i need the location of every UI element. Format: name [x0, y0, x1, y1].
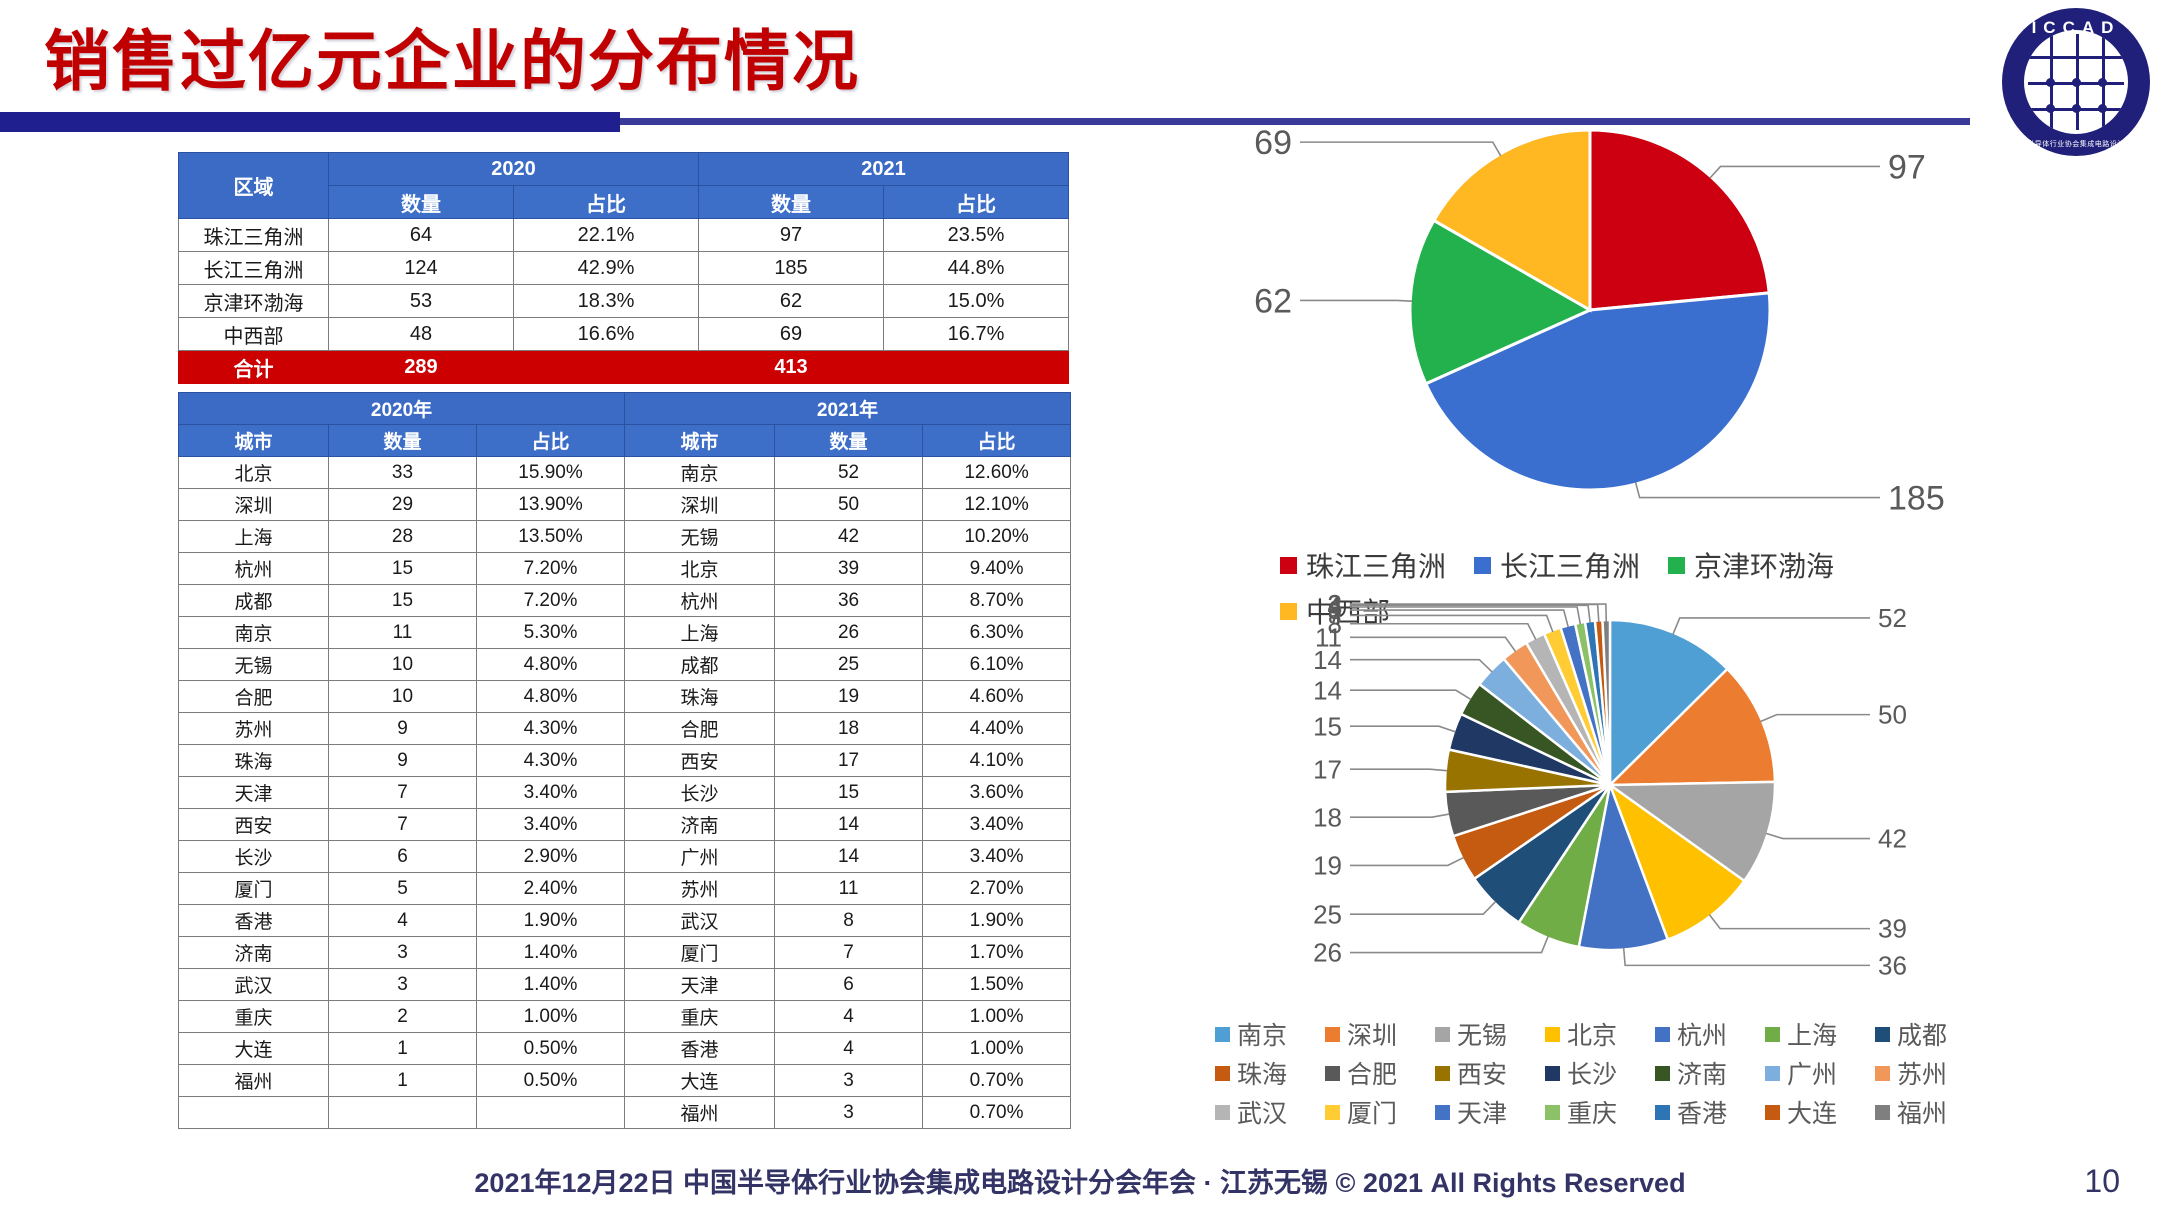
table-cell: 4 — [329, 905, 477, 937]
pie-data-label: 15 — [1313, 711, 1342, 741]
table-cell: 48 — [329, 318, 514, 351]
leader-line — [1300, 142, 1501, 156]
legend-label: 武汉 — [1237, 1094, 1287, 1130]
legend-swatch-icon — [1325, 1066, 1340, 1081]
pie-slice — [1590, 130, 1769, 310]
table-cell: 3.60% — [923, 777, 1071, 809]
table-row: 福州10.50%大连30.70% — [179, 1065, 1071, 1097]
table-cell: 长江三角洲 — [179, 252, 329, 285]
table-cell: 0.50% — [477, 1065, 625, 1097]
table-cell: 15 — [775, 777, 923, 809]
city-subheader-count-2020: 数量 — [329, 425, 477, 457]
table-row: 合肥104.80%珠海194.60% — [179, 681, 1071, 713]
table-cell: 7 — [329, 809, 477, 841]
table-cell: 12.60% — [923, 457, 1071, 489]
table-cell: 天津 — [179, 777, 329, 809]
table-cell: 1.00% — [923, 1001, 1071, 1033]
region-subheader-count-2020: 数量 — [329, 186, 514, 219]
pie-data-label: 26 — [1313, 938, 1342, 968]
table-row: 深圳2913.90%深圳5012.10% — [179, 489, 1071, 521]
pie-data-label: 36 — [1878, 950, 1907, 980]
table-cell — [884, 351, 1069, 384]
leader-line — [1350, 637, 1516, 651]
table-cell: 12.10% — [923, 489, 1071, 521]
table-cell: 济南 — [625, 809, 775, 841]
leader-line — [1350, 660, 1492, 672]
table-cell: 3.40% — [477, 809, 625, 841]
legend-swatch-icon — [1668, 557, 1685, 574]
table-cell: 14 — [775, 841, 923, 873]
table-cell: 97 — [699, 219, 884, 252]
table-cell: 重庆 — [625, 1001, 775, 1033]
table-cell: 3 — [775, 1065, 923, 1097]
legend-label: 西安 — [1457, 1055, 1507, 1091]
legend-swatch-icon — [1435, 1066, 1450, 1081]
pie-data-label: 18 — [1313, 802, 1342, 832]
table-cell — [179, 1097, 329, 1129]
table-cell: 无锡 — [625, 521, 775, 553]
legend-label: 大连 — [1787, 1094, 1837, 1130]
table-cell: 香港 — [625, 1033, 775, 1065]
table-cell: 重庆 — [179, 1001, 329, 1033]
legend-label: 重庆 — [1567, 1094, 1617, 1130]
table-cell: 3 — [329, 969, 477, 1001]
table-cell: 杭州 — [179, 553, 329, 585]
table-cell: 福州 — [625, 1097, 775, 1129]
table-cell: 9.40% — [923, 553, 1071, 585]
table-row: 长沙62.90%广州143.40% — [179, 841, 1071, 873]
pie-data-label: 39 — [1878, 914, 1907, 944]
table-cell: 武汉 — [179, 969, 329, 1001]
table-cell: 苏州 — [625, 873, 775, 905]
legend-item[interactable]: 重庆 — [1545, 1094, 1649, 1130]
table-cell: 17 — [775, 745, 923, 777]
footer-text: 2021年12月22日 中国半导体行业协会集成电路设计分会年会 · 江苏无锡 ©… — [0, 1161, 2160, 1200]
legend-label: 上海 — [1787, 1016, 1837, 1052]
table-cell: 大连 — [625, 1065, 775, 1097]
table-cell: 36 — [775, 585, 923, 617]
pie-data-label: 19 — [1313, 850, 1342, 880]
table-cell: 28 — [329, 521, 477, 553]
leader-line — [1673, 618, 1870, 634]
table-cell: 南京 — [179, 617, 329, 649]
legend-item[interactable]: 杭州 — [1655, 1016, 1759, 1052]
table-cell: 珠海 — [625, 681, 775, 713]
legend-swatch-icon — [1215, 1027, 1230, 1042]
city-header-2020: 2020年 — [179, 393, 625, 425]
legend-swatch-icon — [1655, 1066, 1670, 1081]
city-pie-chart: 52504239362625191817151414118764433 — [1160, 590, 2060, 1020]
table-cell: 2.90% — [477, 841, 625, 873]
table-cell: 53 — [329, 285, 514, 318]
table-row-total: 合计289413 — [179, 351, 1069, 384]
table-cell: 成都 — [179, 585, 329, 617]
legend-swatch-icon — [1765, 1105, 1780, 1120]
table-cell: 6.30% — [923, 617, 1071, 649]
table-cell: 4.30% — [477, 713, 625, 745]
table-row: 厦门52.40%苏州112.70% — [179, 873, 1071, 905]
table-cell: 济南 — [179, 937, 329, 969]
legend-swatch-icon — [1545, 1066, 1560, 1081]
table-cell: 4.30% — [477, 745, 625, 777]
table-cell: 4.10% — [923, 745, 1071, 777]
table-cell: 4.40% — [923, 713, 1071, 745]
table-cell: 0.70% — [923, 1065, 1071, 1097]
legend-item[interactable]: 上海 — [1765, 1016, 1869, 1052]
table-cell: 北京 — [625, 553, 775, 585]
city-header-2021: 2021年 — [625, 393, 1071, 425]
table-cell: 7 — [329, 777, 477, 809]
pie-data-label: 17 — [1313, 754, 1342, 784]
legend-label: 南京 — [1237, 1016, 1287, 1052]
region-subheader-count-2021: 数量 — [699, 186, 884, 219]
slide: 销售过亿元企业的分布情况 ICCAD 中国半导体行业协会集成电路设计分会 区域 … — [0, 0, 2160, 1216]
legend-swatch-icon — [1765, 1027, 1780, 1042]
legend-item[interactable]: 西安 — [1435, 1055, 1539, 1091]
table-cell: 124 — [329, 252, 514, 285]
table-cell: 1.40% — [477, 969, 625, 1001]
table-cell — [514, 351, 699, 384]
table-cell: 16.7% — [884, 318, 1069, 351]
table-cell: 185 — [699, 252, 884, 285]
table-cell: 52 — [775, 457, 923, 489]
table-row: 成都157.20%杭州368.70% — [179, 585, 1071, 617]
table-cell: 0.50% — [477, 1033, 625, 1065]
leader-line — [1350, 769, 1447, 771]
leader-line — [1350, 936, 1548, 952]
table-cell: 1.70% — [923, 937, 1071, 969]
region-header-2021: 2021 — [699, 153, 1069, 186]
legend-swatch-icon — [1765, 1066, 1780, 1081]
table-cell: 11 — [775, 873, 923, 905]
table-cell: 10 — [329, 681, 477, 713]
table-cell: 1 — [329, 1033, 477, 1065]
table-cell: 18.3% — [514, 285, 699, 318]
legend-label: 京津环渤海 — [1694, 545, 1834, 585]
table-cell: 1.00% — [923, 1033, 1071, 1065]
legend-label: 无锡 — [1457, 1016, 1507, 1052]
legend-label: 长沙 — [1567, 1055, 1617, 1091]
region-pie-chart: 971856269 — [1190, 120, 1980, 540]
table-cell: 14 — [775, 809, 923, 841]
region-subheader-share-2021: 占比 — [884, 186, 1069, 219]
legend-swatch-icon — [1655, 1105, 1670, 1120]
table-cell: 6 — [775, 969, 923, 1001]
legend-item[interactable]: 北京 — [1545, 1016, 1649, 1052]
table-row: 天津73.40%长沙153.60% — [179, 777, 1071, 809]
legend-swatch-icon — [1545, 1027, 1560, 1042]
table-cell: 上海 — [625, 617, 775, 649]
legend-label: 长江三角洲 — [1500, 545, 1640, 585]
table-cell: 9 — [329, 713, 477, 745]
legend-item[interactable]: 长沙 — [1545, 1055, 1649, 1091]
leader-line — [1350, 858, 1464, 866]
table-cell: 西安 — [625, 745, 775, 777]
leader-line — [1350, 814, 1449, 817]
table-cell: 7.20% — [477, 585, 625, 617]
legend-swatch-icon — [1280, 557, 1297, 574]
table-cell: 25 — [775, 649, 923, 681]
table-cell: 武汉 — [625, 905, 775, 937]
table-cell: 2.40% — [477, 873, 625, 905]
city-subheader-share-2020: 占比 — [477, 425, 625, 457]
legend-swatch-icon — [1474, 557, 1491, 574]
legend-item[interactable]: 香港 — [1655, 1094, 1759, 1130]
table-row: 武汉31.40%天津61.50% — [179, 969, 1071, 1001]
region-header-2020: 2020 — [329, 153, 699, 186]
legend-item[interactable]: 无锡 — [1435, 1016, 1539, 1052]
legend-item[interactable]: 珠江三角洲 — [1280, 545, 1446, 585]
table-row: 京津环渤海5318.3%6215.0% — [179, 285, 1069, 318]
table-cell: 4 — [775, 1033, 923, 1065]
table-cell: 15 — [329, 585, 477, 617]
table-row: 福州30.70% — [179, 1097, 1071, 1129]
table-cell: 大连 — [179, 1033, 329, 1065]
table-cell: 23.5% — [884, 219, 1069, 252]
leader-line — [1636, 482, 1880, 497]
table-cell: 8 — [775, 905, 923, 937]
city-subheader-city-2020: 城市 — [179, 425, 329, 457]
table-cell: 南京 — [625, 457, 775, 489]
table-cell: 5 — [329, 873, 477, 905]
legend-label: 天津 — [1457, 1094, 1507, 1130]
table-cell: 15.0% — [884, 285, 1069, 318]
legend-label: 深圳 — [1347, 1016, 1397, 1052]
table-cell: 22.1% — [514, 219, 699, 252]
table-cell: 4.80% — [477, 681, 625, 713]
table-cell: 无锡 — [179, 649, 329, 681]
table-cell: 中西部 — [179, 318, 329, 351]
leader-line — [1624, 948, 1870, 966]
leader-line — [1710, 166, 1880, 178]
table-cell: 合肥 — [625, 713, 775, 745]
table-cell: 福州 — [179, 1065, 329, 1097]
table-cell: 62 — [699, 285, 884, 318]
table-cell: 3.40% — [923, 809, 1071, 841]
table-cell: 香港 — [179, 905, 329, 937]
table-cell: 3 — [329, 937, 477, 969]
table-cell: 厦门 — [179, 873, 329, 905]
table-row: 杭州157.20%北京399.40% — [179, 553, 1071, 585]
region-subheader-share-2020: 占比 — [514, 186, 699, 219]
table-cell: 10 — [329, 649, 477, 681]
legend-item[interactable]: 成都 — [1875, 1016, 1979, 1052]
legend-label: 北京 — [1567, 1016, 1617, 1052]
legend-item[interactable]: 长江三角洲 — [1474, 545, 1640, 585]
legend-item[interactable]: 南京 — [1215, 1016, 1319, 1052]
legend-item[interactable]: 广州 — [1765, 1055, 1869, 1091]
page-number: 10 — [2084, 1163, 2120, 1200]
table-row: 北京3315.90%南京5212.60% — [179, 457, 1071, 489]
table-cell: 厦门 — [625, 937, 775, 969]
table-cell: 珠海 — [179, 745, 329, 777]
pie-data-label: 25 — [1313, 899, 1342, 929]
table-cell: 成都 — [625, 649, 775, 681]
legend-swatch-icon — [1435, 1027, 1450, 1042]
table-cell: 长沙 — [179, 841, 329, 873]
city-subheader-count-2021: 数量 — [775, 425, 923, 457]
table-cell: 50 — [775, 489, 923, 521]
logo-circuit-icon — [2024, 30, 2128, 134]
table-cell: 44.8% — [884, 252, 1069, 285]
table-row: 上海2813.50%无锡4210.20% — [179, 521, 1071, 553]
table-cell: 深圳 — [179, 489, 329, 521]
pie-data-label: 3 — [1328, 590, 1342, 619]
table-row: 苏州94.30%合肥184.40% — [179, 713, 1071, 745]
table-cell: 1.50% — [923, 969, 1071, 1001]
table-cell: 广州 — [625, 841, 775, 873]
legend-label: 厦门 — [1347, 1094, 1397, 1130]
table-cell: 289 — [329, 351, 514, 384]
table-cell: 珠江三角洲 — [179, 219, 329, 252]
table-cell: 2.70% — [923, 873, 1071, 905]
city-subheader-city-2021: 城市 — [625, 425, 775, 457]
legend-label: 济南 — [1677, 1055, 1727, 1091]
table-cell: 天津 — [625, 969, 775, 1001]
table-row: 香港41.90%武汉81.90% — [179, 905, 1071, 937]
table-cell: 33 — [329, 457, 477, 489]
legend-label: 合肥 — [1347, 1055, 1397, 1091]
table-cell: 1 — [329, 1065, 477, 1097]
legend-label: 香港 — [1677, 1094, 1727, 1130]
city-subheader-share-2021: 占比 — [923, 425, 1071, 457]
table-cell: 5.30% — [477, 617, 625, 649]
table-cell: 6.10% — [923, 649, 1071, 681]
iccad-logo: ICCAD 中国半导体行业协会集成电路设计分会 — [2002, 8, 2150, 156]
legend-swatch-icon — [1875, 1105, 1890, 1120]
legend-swatch-icon — [1325, 1105, 1340, 1120]
table-cell: 8.70% — [923, 585, 1071, 617]
leader-line — [1350, 726, 1456, 732]
table-row: 珠海94.30%西安174.10% — [179, 745, 1071, 777]
table-cell: 10.20% — [923, 521, 1071, 553]
legend-item[interactable]: 苏州 — [1875, 1055, 1979, 1091]
legend-item[interactable]: 合肥 — [1325, 1055, 1429, 1091]
legend-label: 苏州 — [1897, 1055, 1947, 1091]
legend-swatch-icon — [1875, 1027, 1890, 1042]
legend-item[interactable]: 济南 — [1655, 1055, 1759, 1091]
table-cell: 上海 — [179, 521, 329, 553]
leader-line — [1709, 915, 1870, 929]
table-cell — [329, 1097, 477, 1129]
table-cell: 合肥 — [179, 681, 329, 713]
table-cell: 3.40% — [477, 777, 625, 809]
legend-label: 珠江三角洲 — [1306, 545, 1446, 585]
table-cell: 1.00% — [477, 1001, 625, 1033]
table-row: 长江三角洲12442.9%18544.8% — [179, 252, 1069, 285]
table-cell: 4.80% — [477, 649, 625, 681]
table-cell: 9 — [329, 745, 477, 777]
table-row: 南京115.30%上海266.30% — [179, 617, 1071, 649]
table-cell: 6 — [329, 841, 477, 873]
table-cell: 15 — [329, 553, 477, 585]
table-cell: 64 — [329, 219, 514, 252]
page-title: 销售过亿元企业的分布情况 — [44, 8, 860, 104]
table-row: 珠江三角洲6422.1%9723.5% — [179, 219, 1069, 252]
pie-data-label: 69 — [1254, 124, 1292, 162]
legend-label: 广州 — [1787, 1055, 1837, 1091]
table-cell: 18 — [775, 713, 923, 745]
table-cell: 合计 — [179, 351, 329, 384]
title-rule-thick — [0, 112, 620, 132]
pie-data-label: 185 — [1888, 479, 1945, 517]
leader-line — [1300, 300, 1412, 301]
table-cell: 11 — [329, 617, 477, 649]
table-cell: 杭州 — [625, 585, 775, 617]
table-cell: 1.90% — [477, 905, 625, 937]
table-cell: 69 — [699, 318, 884, 351]
leader-line — [1350, 902, 1496, 915]
table-cell: 4 — [775, 1001, 923, 1033]
table-cell: 1.40% — [477, 937, 625, 969]
leader-line — [1350, 605, 1590, 623]
legend-label: 福州 — [1897, 1094, 1947, 1130]
table-cell: 16.6% — [514, 318, 699, 351]
table-cell: 京津环渤海 — [179, 285, 329, 318]
table-row: 大连10.50%香港41.00% — [179, 1033, 1071, 1065]
table-row: 中西部4816.6%6916.7% — [179, 318, 1069, 351]
table-cell: 3 — [775, 1097, 923, 1129]
table-cell: 15.90% — [477, 457, 625, 489]
table-cell — [477, 1097, 625, 1129]
region-distribution-table: 区域 2020 2021 数量 占比 数量 占比 珠江三角洲6422.1%972… — [178, 152, 1069, 384]
pie-data-label: 62 — [1254, 282, 1292, 320]
logo-subtitle: 中国半导体行业协会集成电路设计分会 — [2002, 139, 2150, 149]
region-col-header: 区域 — [179, 153, 329, 219]
pie-data-label: 50 — [1878, 700, 1907, 730]
legend-item[interactable]: 深圳 — [1325, 1016, 1429, 1052]
table-cell: 26 — [775, 617, 923, 649]
table-row: 济南31.40%厦门71.70% — [179, 937, 1071, 969]
table-cell: 1.90% — [923, 905, 1071, 937]
city-distribution-table: 2020年 2021年 城市 数量 占比 城市 数量 占比 北京3315.90%… — [178, 392, 1071, 1129]
city-pie-legend: 南京深圳无锡北京杭州上海成都珠海合肥西安长沙济南广州苏州武汉厦门天津重庆香港大连… — [1215, 1016, 2015, 1133]
legend-swatch-icon — [1215, 1066, 1230, 1081]
legend-item[interactable]: 珠海 — [1215, 1055, 1319, 1091]
table-cell: 13.50% — [477, 521, 625, 553]
table-cell: 苏州 — [179, 713, 329, 745]
leader-line — [1766, 833, 1870, 838]
leader-line — [1760, 715, 1870, 722]
legend-swatch-icon — [1545, 1105, 1560, 1120]
legend-swatch-icon — [1435, 1105, 1450, 1120]
legend-item[interactable]: 福州 — [1875, 1094, 1979, 1130]
table-row: 西安73.40%济南143.40% — [179, 809, 1071, 841]
table-cell: 413 — [699, 351, 884, 384]
table-cell: 西安 — [179, 809, 329, 841]
legend-swatch-icon — [1875, 1066, 1890, 1081]
pie-data-label: 14 — [1313, 675, 1342, 705]
legend-label: 杭州 — [1677, 1016, 1727, 1052]
legend-item[interactable]: 大连 — [1765, 1094, 1869, 1130]
legend-item[interactable]: 武汉 — [1215, 1094, 1319, 1130]
table-cell: 42 — [775, 521, 923, 553]
legend-item[interactable]: 京津环渤海 — [1668, 545, 1834, 585]
legend-item[interactable]: 厦门 — [1325, 1094, 1429, 1130]
legend-swatch-icon — [1215, 1105, 1230, 1120]
table-cell: 7 — [775, 937, 923, 969]
legend-item[interactable]: 天津 — [1435, 1094, 1539, 1130]
table-cell: 0.70% — [923, 1097, 1071, 1129]
table-cell: 39 — [775, 553, 923, 585]
table-cell: 2 — [329, 1001, 477, 1033]
pie-data-label: 97 — [1888, 148, 1926, 186]
table-cell: 42.9% — [514, 252, 699, 285]
table-cell: 北京 — [179, 457, 329, 489]
table-cell: 7.20% — [477, 553, 625, 585]
leader-line — [1350, 690, 1471, 699]
pie-data-label: 52 — [1878, 603, 1907, 633]
